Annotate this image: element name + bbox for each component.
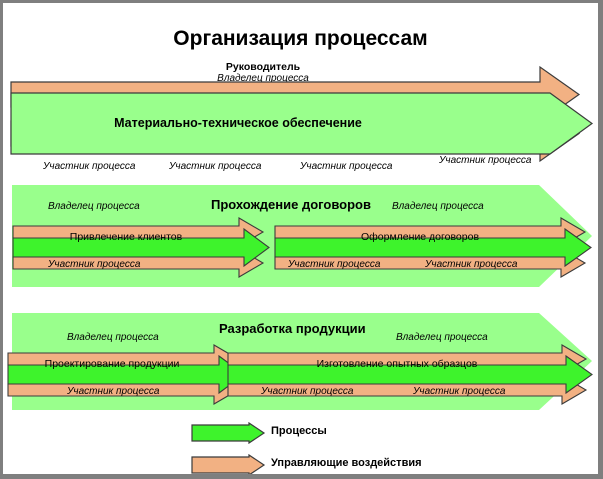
legend-label-controls: Управляющие воздействия <box>271 457 422 469</box>
legend-control-swatch <box>191 454 266 474</box>
contracts-owner-2: Владелец процесса <box>392 201 484 212</box>
mto-participant-4: Участник процесса <box>439 155 531 166</box>
mto-participant-3: Участник процесса <box>300 161 392 172</box>
mto-participant-2: Участник процесса <box>169 161 261 172</box>
development-owner-2: Владелец процесса <box>396 332 488 343</box>
development-owner-1: Владелец процесса <box>67 332 159 343</box>
page-title: Организация процессам <box>3 27 598 51</box>
contracts-right-arrows <box>273 216 595 280</box>
contracts-process-1: Привлечение клиентов <box>11 231 241 243</box>
development-participant-3: Участник процесса <box>413 386 505 397</box>
development-right-arrows <box>226 343 596 407</box>
contracts-process-2: Оформление договоров <box>275 231 565 243</box>
contracts-left-arrows <box>11 216 281 280</box>
contracts-participant-2: Участник процесса <box>288 259 380 270</box>
development-left-arrows <box>6 343 256 407</box>
mto-participant-1: Участник процесса <box>43 161 135 172</box>
mto-process-label: Материально-техническое обеспечение <box>3 116 473 130</box>
development-process-2: Изготовление опытных образцов <box>228 358 566 370</box>
contracts-section-title: Прохождение договоров <box>211 197 371 212</box>
development-process-1: Проектирование продукции <box>6 358 218 370</box>
diagram-canvas: Организация процессам Руководитель Владе… <box>3 3 598 474</box>
contracts-owner-1: Владелец процесса <box>48 201 140 212</box>
development-section-title: Разработка продукции <box>219 321 366 336</box>
contracts-participant-1: Участник процесса <box>48 259 140 270</box>
development-participant-2: Участник процесса <box>261 386 353 397</box>
development-participant-1: Участник процесса <box>67 386 159 397</box>
contracts-participant-3: Участник процесса <box>425 259 517 270</box>
legend-process-swatch <box>191 422 266 444</box>
legend-label-processes: Процессы <box>271 425 327 437</box>
